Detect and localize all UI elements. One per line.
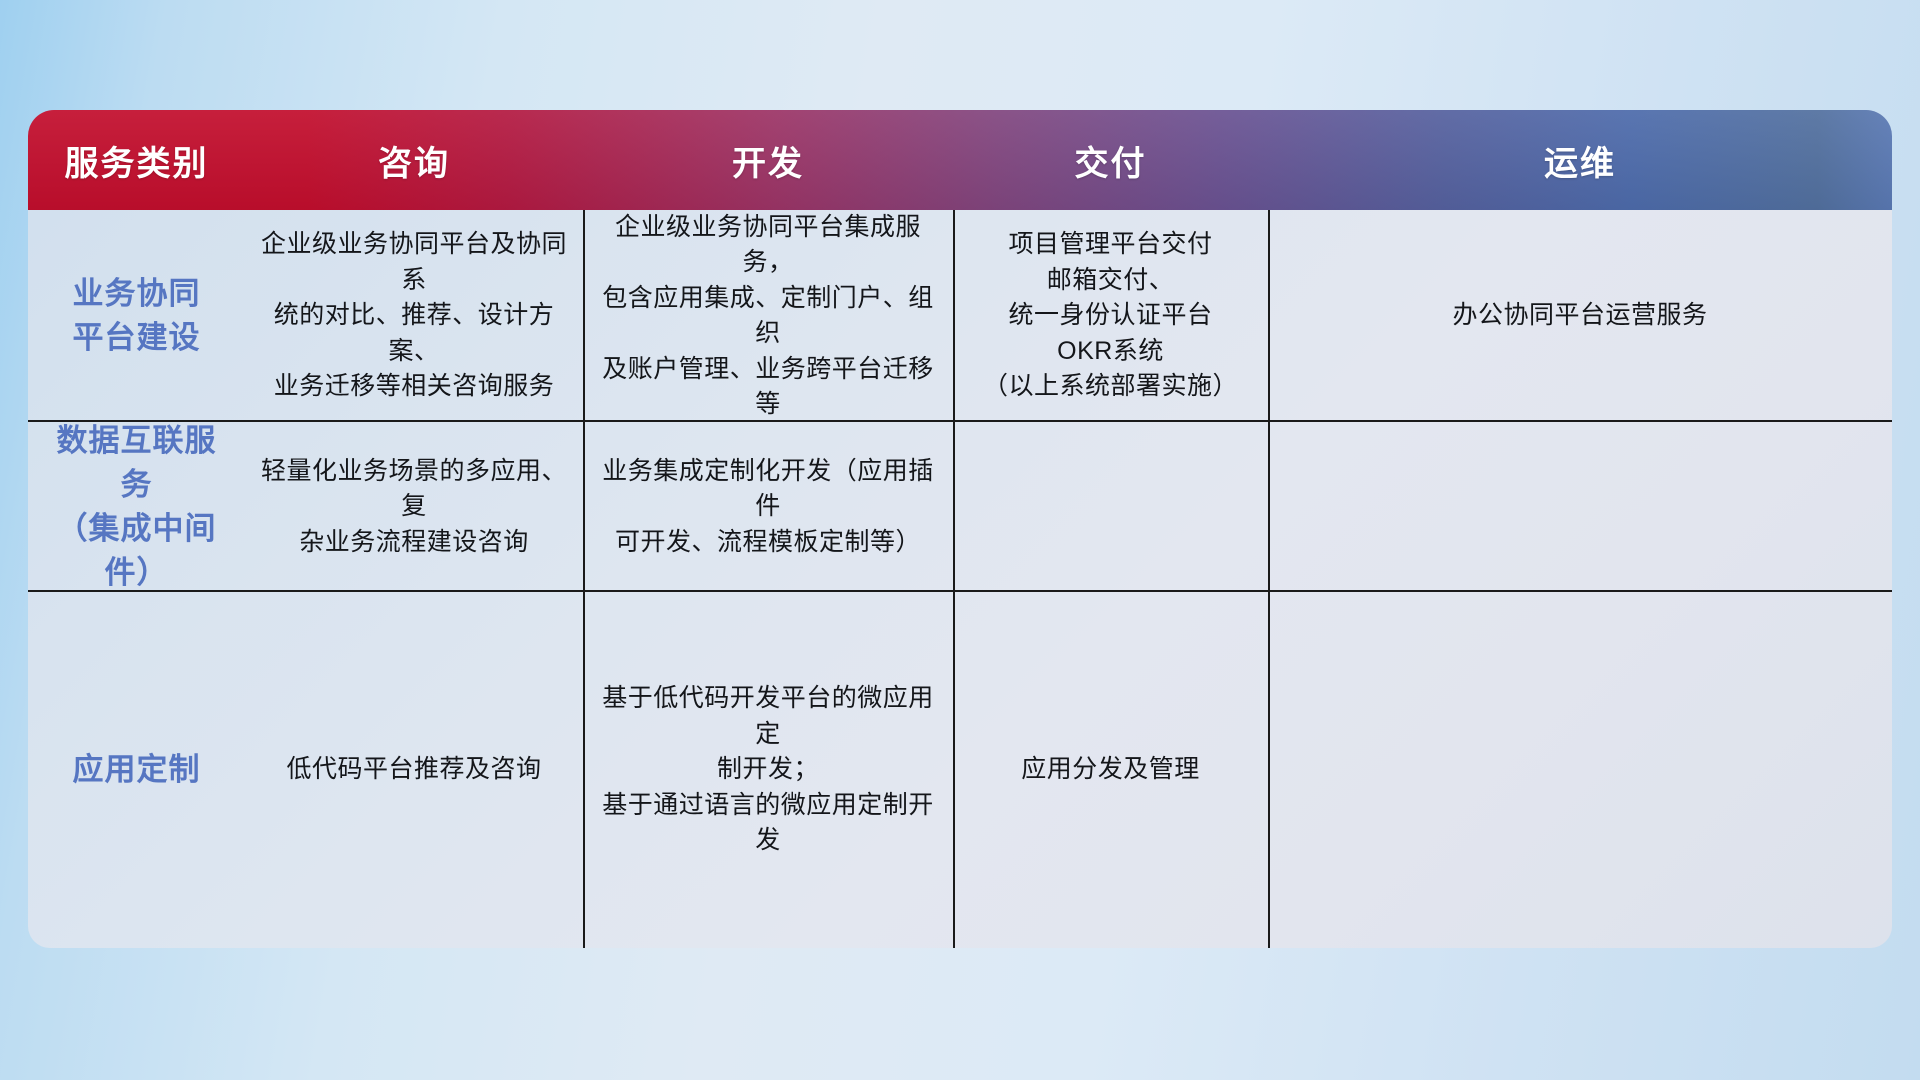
cell-row3-development: 基于低代码开发平台的微应用定 制开发； 基于通过语言的微应用定制开发 [583,592,953,948]
column-header-operations: 运维 [1268,136,1892,185]
table-body: 业务协同 平台建设 企业级业务协同平台及协同系 统的对比、推荐、设计方案、 业务… [28,210,1892,948]
cell-row1-consulting: 企业级业务协同平台及协同系 统的对比、推荐、设计方案、 业务迁移等相关咨询服务 [245,210,583,422]
table-row: 数据互联服务 （集成中间件） 轻量化业务场景的多应用、复 杂业务流程建设咨询 业… [28,422,1892,592]
column-header-consulting: 咨询 [245,136,583,185]
row-label-app-customization: 应用定制 [28,592,245,948]
column-header-development: 开发 [583,136,953,185]
cell-row2-operations [1268,422,1892,592]
cell-row3-consulting: 低代码平台推荐及咨询 [245,592,583,948]
cell-row2-development: 业务集成定制化开发（应用插件 可开发、流程模板定制等） [583,422,953,592]
service-matrix-table: 服务类别 咨询 开发 交付 运维 业务协同 平台建设 企业级业务协同平台及协同系… [28,110,1892,948]
column-header-delivery: 交付 [953,136,1268,185]
row-label-data-interconnect: 数据互联服务 （集成中间件） [28,422,245,592]
table-row: 业务协同 平台建设 企业级业务协同平台及协同系 统的对比、推荐、设计方案、 业务… [28,210,1892,422]
column-header-category: 服务类别 [28,136,245,185]
cell-row3-delivery: 应用分发及管理 [953,592,1268,948]
table-row: 应用定制 低代码平台推荐及咨询 基于低代码开发平台的微应用定 制开发； 基于通过… [28,592,1892,948]
cell-row2-delivery [953,422,1268,592]
row-label-business-collaboration: 业务协同 平台建设 [28,210,245,422]
table-header-row: 服务类别 咨询 开发 交付 运维 [28,110,1892,210]
cell-row1-operations: 办公协同平台运营服务 [1268,210,1892,422]
cell-row1-development: 企业级业务协同平台集成服务， 包含应用集成、定制门户、组织 及账户管理、业务跨平… [583,210,953,422]
cell-row3-operations [1268,592,1892,948]
cell-row2-consulting: 轻量化业务场景的多应用、复 杂业务流程建设咨询 [245,422,583,592]
cell-row1-delivery: 项目管理平台交付 邮箱交付、 统一身份认证平台 OKR系统 （以上系统部署实施） [953,210,1268,422]
